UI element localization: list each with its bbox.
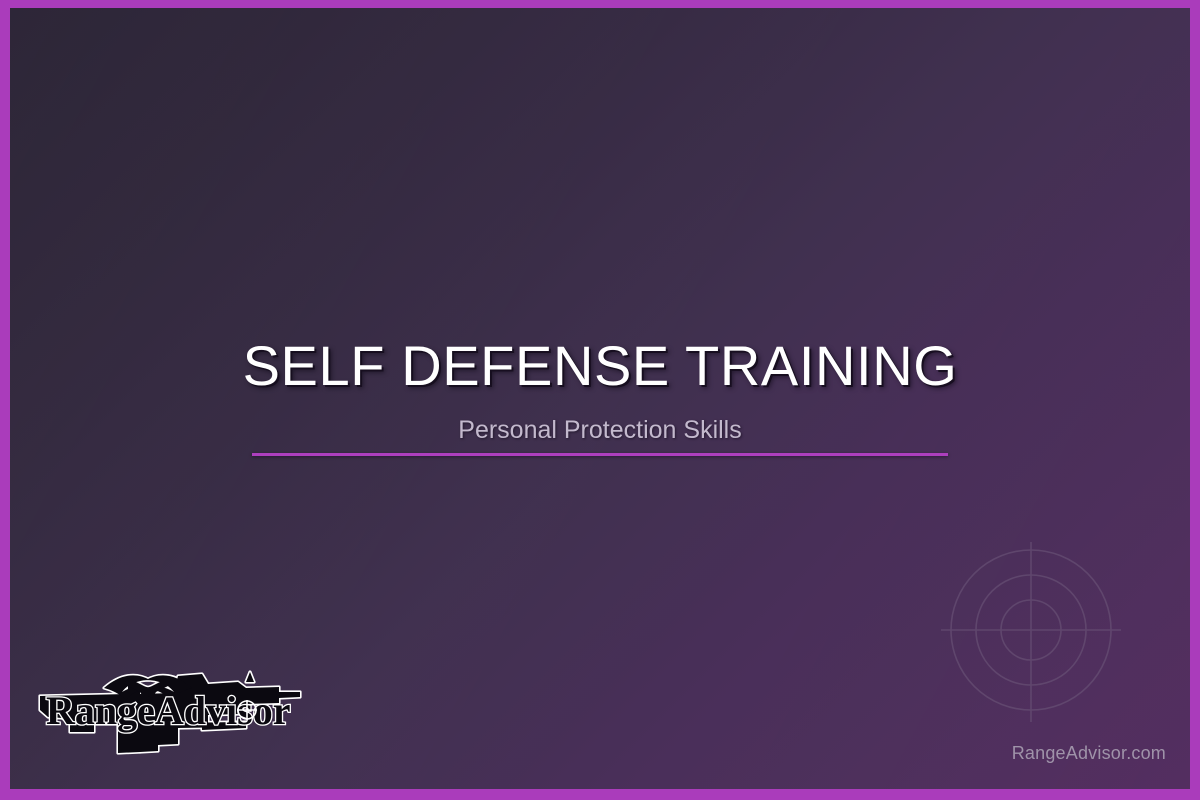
page-title: SELF DEFENSE TRAINING: [10, 338, 1190, 394]
page-subtitle: Personal Protection Skills: [10, 418, 1190, 443]
rifle-silhouette-icon: RangeAdvisor: [32, 662, 312, 760]
title-block: SELF DEFENSE TRAINING Personal Protectio…: [10, 338, 1190, 443]
slide-canvas: SELF DEFENSE TRAINING Personal Protectio…: [10, 8, 1190, 789]
brand-logo: RangeAdvisor: [32, 662, 312, 760]
presentation-slide: SELF DEFENSE TRAINING Personal Protectio…: [0, 0, 1200, 800]
title-divider: [252, 453, 948, 456]
site-watermark: RangeAdvisor.com: [1012, 743, 1166, 764]
target-crosshair-icon: [941, 542, 1121, 722]
